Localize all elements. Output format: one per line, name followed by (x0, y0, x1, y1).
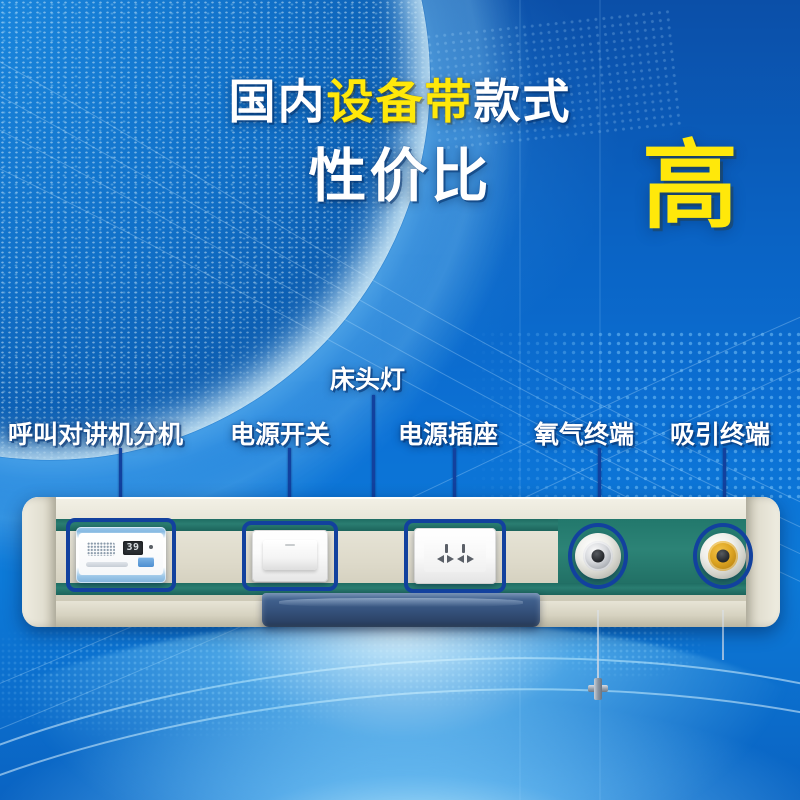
power-switch[interactable] (252, 530, 328, 582)
hanging-cable-secondary (722, 610, 724, 660)
power-switch-rocker[interactable] (263, 540, 317, 570)
callout-layer: 呼叫对讲机分机 电源开关 床头灯 电源插座 氧气终端 吸引终端 (0, 0, 800, 800)
panel-endcap-left (22, 497, 56, 627)
suction-terminal[interactable] (700, 533, 746, 579)
status-led-icon (149, 545, 153, 549)
plug-shaft-icon (594, 678, 602, 700)
socket-upper-pins (424, 544, 486, 553)
callout-label-power-switch: 电源开关 (230, 415, 330, 451)
power-socket[interactable] (414, 528, 496, 584)
nurse-call-intercom[interactable]: 39 (76, 527, 166, 583)
nurse-call-button[interactable] (138, 557, 154, 567)
socket-pin-icon (462, 544, 465, 553)
socket-slot-icon (437, 555, 444, 563)
oxygen-terminal[interactable] (575, 533, 621, 579)
oxygen-terminal-port[interactable] (592, 550, 605, 563)
speaker-grille-icon (87, 542, 115, 556)
hanging-connector-plug (588, 678, 608, 700)
socket-lower-slots (424, 555, 486, 563)
socket-slot-icon (457, 555, 464, 563)
nurse-call-display: 39 (123, 541, 143, 555)
callout-label-nurse-call: 呼叫对讲机分机 (8, 415, 183, 451)
socket-slot-icon (467, 555, 474, 563)
suction-terminal-port[interactable] (717, 550, 730, 563)
callout-label-power-socket: 电源插座 (398, 415, 498, 451)
nurse-call-faceplate: 39 (79, 533, 163, 575)
nurse-call-vent-slot (86, 562, 128, 567)
callout-label-bed-lamp: 床头灯 (330, 360, 405, 396)
bed-lamp[interactable] (262, 593, 540, 627)
socket-pin-icon (445, 544, 448, 553)
callout-label-oxygen: 氧气终端 (534, 415, 634, 451)
panel-endcap-right (746, 497, 780, 627)
power-socket-faceplate (424, 539, 486, 572)
poster-canvas: 国内设备带款式 性价比 高 呼叫对讲机分机 电源开关 床头灯 电源插座 氧气终端… (0, 0, 800, 800)
hanging-cable (597, 610, 599, 682)
socket-slot-icon (447, 555, 454, 563)
callout-label-suction: 吸引终端 (670, 415, 770, 451)
